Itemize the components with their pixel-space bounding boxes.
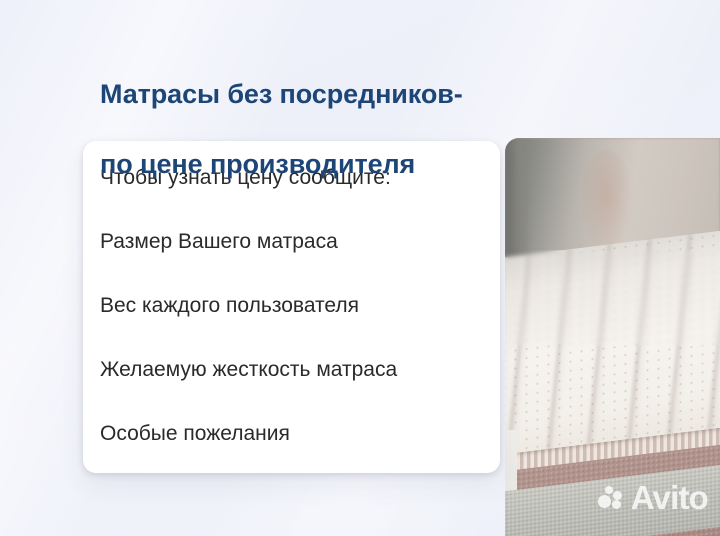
- ad-canvas: Avito Матрасы без посредников- по цене п…: [0, 0, 720, 536]
- list-item: Особые пожелания: [100, 421, 500, 485]
- list-item: Желаемую жесткость матраса: [100, 357, 500, 421]
- mattress-photo: Avito: [505, 138, 720, 536]
- headline-line-1: Матрасы без посредников-: [100, 77, 530, 112]
- list-item: Вес каждого пользователя: [100, 293, 500, 357]
- ad-headline: Матрасы без посредников- по цене произво…: [100, 42, 530, 217]
- list-item: Размер Вашего матраса: [100, 229, 500, 293]
- headline-line-2: по цене производителя: [100, 147, 530, 182]
